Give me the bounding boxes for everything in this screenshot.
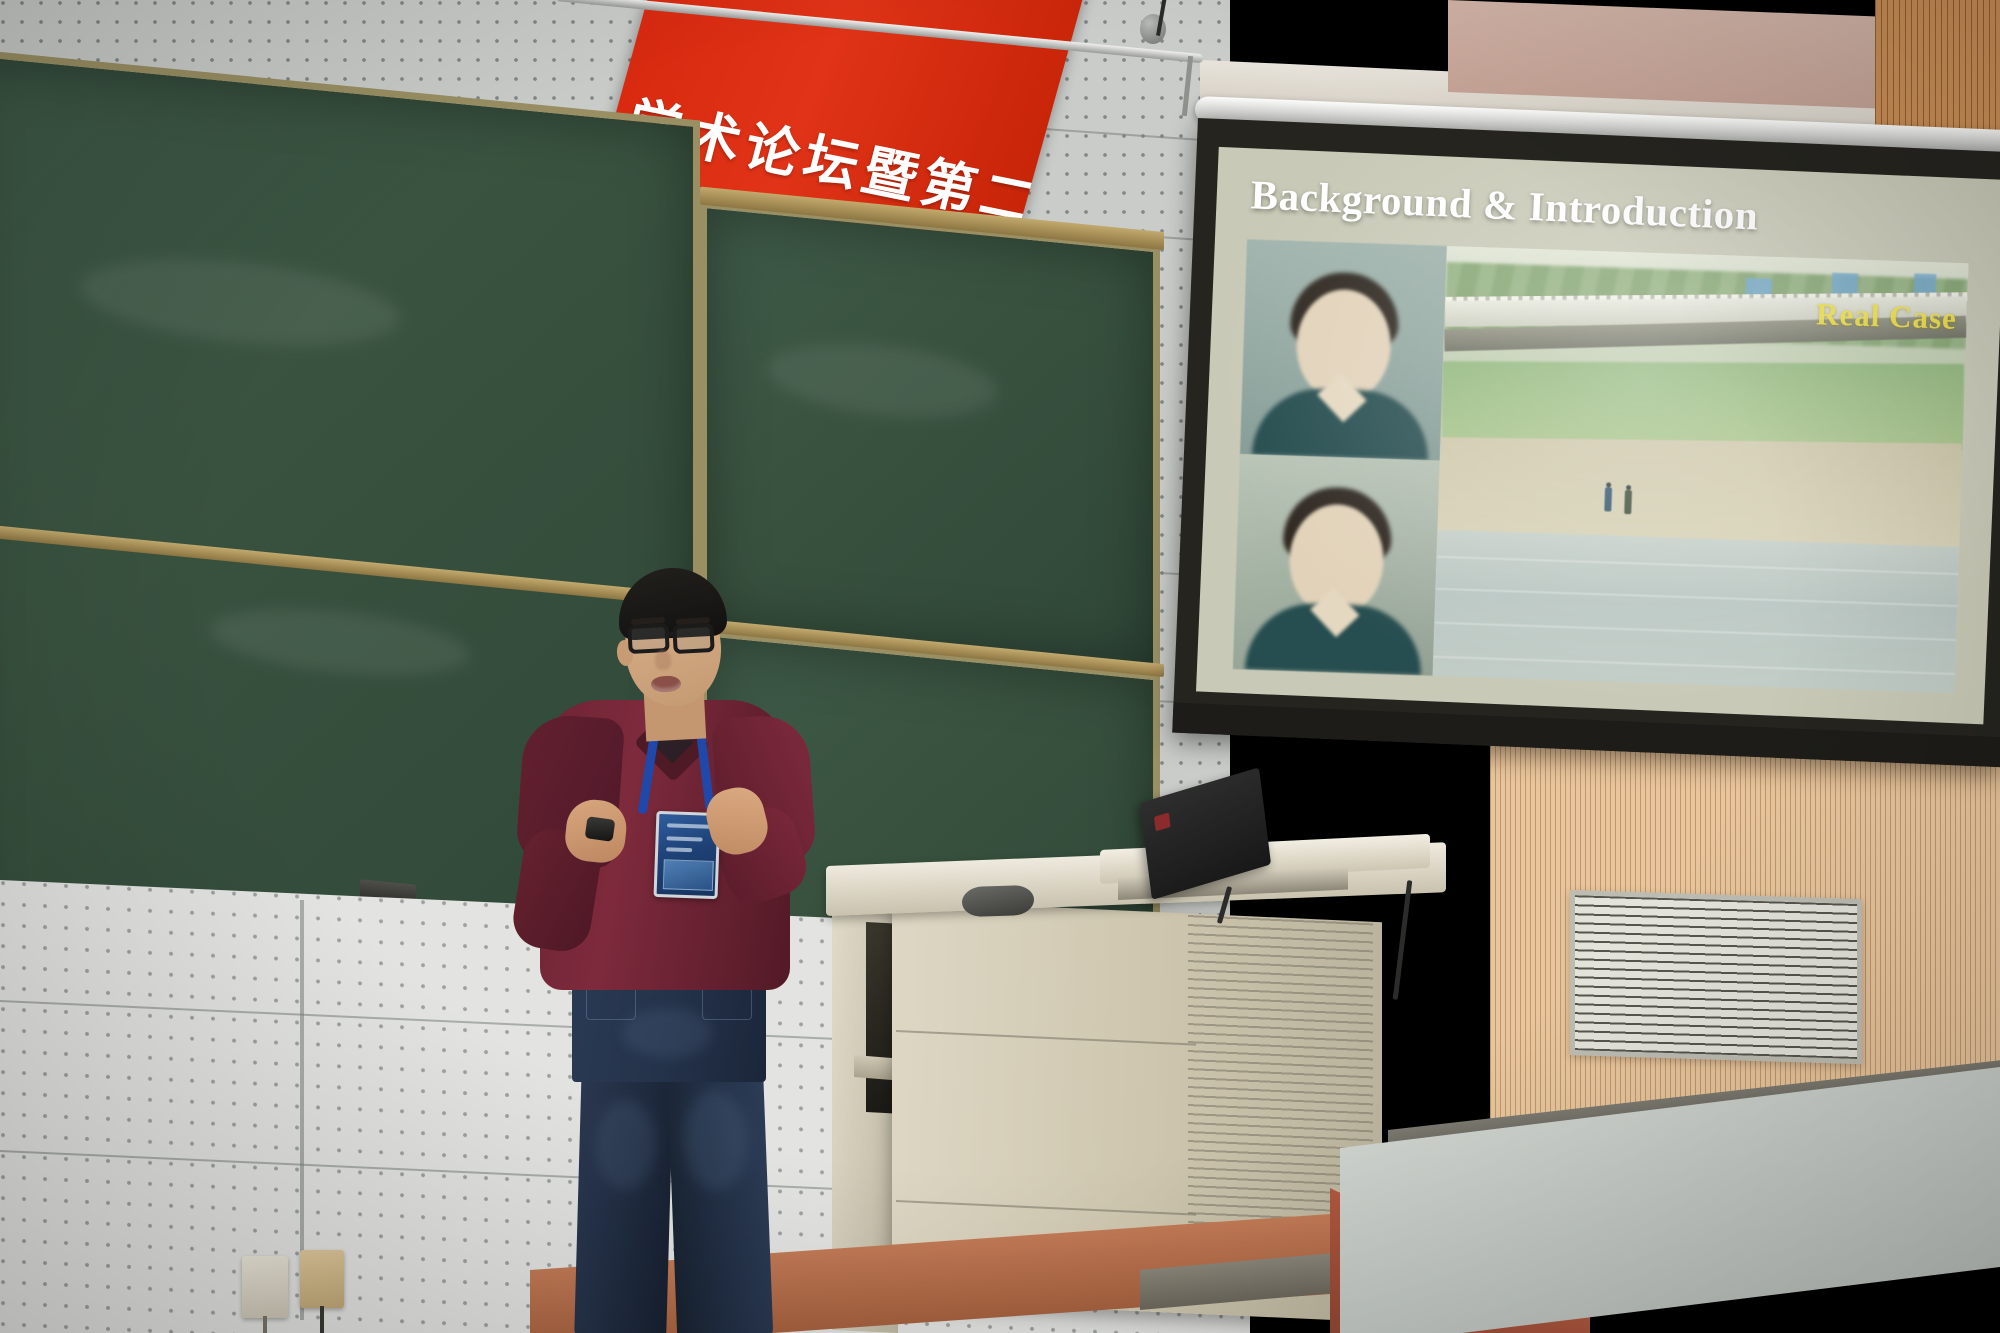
presentation-slide: Background & Introduction <box>1196 147 2000 725</box>
chalkboard-upper-right-panel <box>700 201 1160 676</box>
slide-media-group: Real Case <box>1233 239 1969 693</box>
outlet-cable <box>263 1316 267 1333</box>
slide-title: Background & Introduction <box>1250 170 1759 239</box>
laptop-logo <box>1154 812 1171 831</box>
slide-face-photo-top <box>1240 239 1447 461</box>
presentation-clicker[interactable] <box>585 816 616 842</box>
slide-riverbank-photo: Real Case <box>1433 246 1969 693</box>
wall-outlet-white[interactable] <box>242 1256 288 1318</box>
lecture-hall-photo: 学术论坛暨第二十一届学术周 Background & Introducti <box>0 0 2000 1333</box>
badge-graphic <box>663 859 714 891</box>
photo-river-water <box>1433 530 1960 693</box>
glasses-bridge <box>668 632 676 636</box>
photo-person <box>1624 490 1632 514</box>
computer-mouse[interactable] <box>962 885 1034 918</box>
photo-person <box>1604 487 1612 511</box>
projection-screen: Background & Introduction <box>1172 118 2000 767</box>
slide-face-photo-bottom <box>1233 454 1440 676</box>
power-cable <box>1393 880 1413 1000</box>
air-vent-grille <box>1570 890 1862 1064</box>
wall-upper-right-panel <box>1448 0 1918 110</box>
presenter-leg-left <box>574 1059 674 1333</box>
photo-grass-bank <box>1442 361 1964 450</box>
wall-outlet-tan[interactable] <box>300 1250 344 1308</box>
slide-annotation-real-case: Real Case <box>1816 296 1958 337</box>
presenter-leg-right <box>667 1058 774 1333</box>
presenter-nose <box>655 650 671 670</box>
glasses-icon <box>672 623 714 654</box>
outlet-cable <box>320 1306 324 1333</box>
